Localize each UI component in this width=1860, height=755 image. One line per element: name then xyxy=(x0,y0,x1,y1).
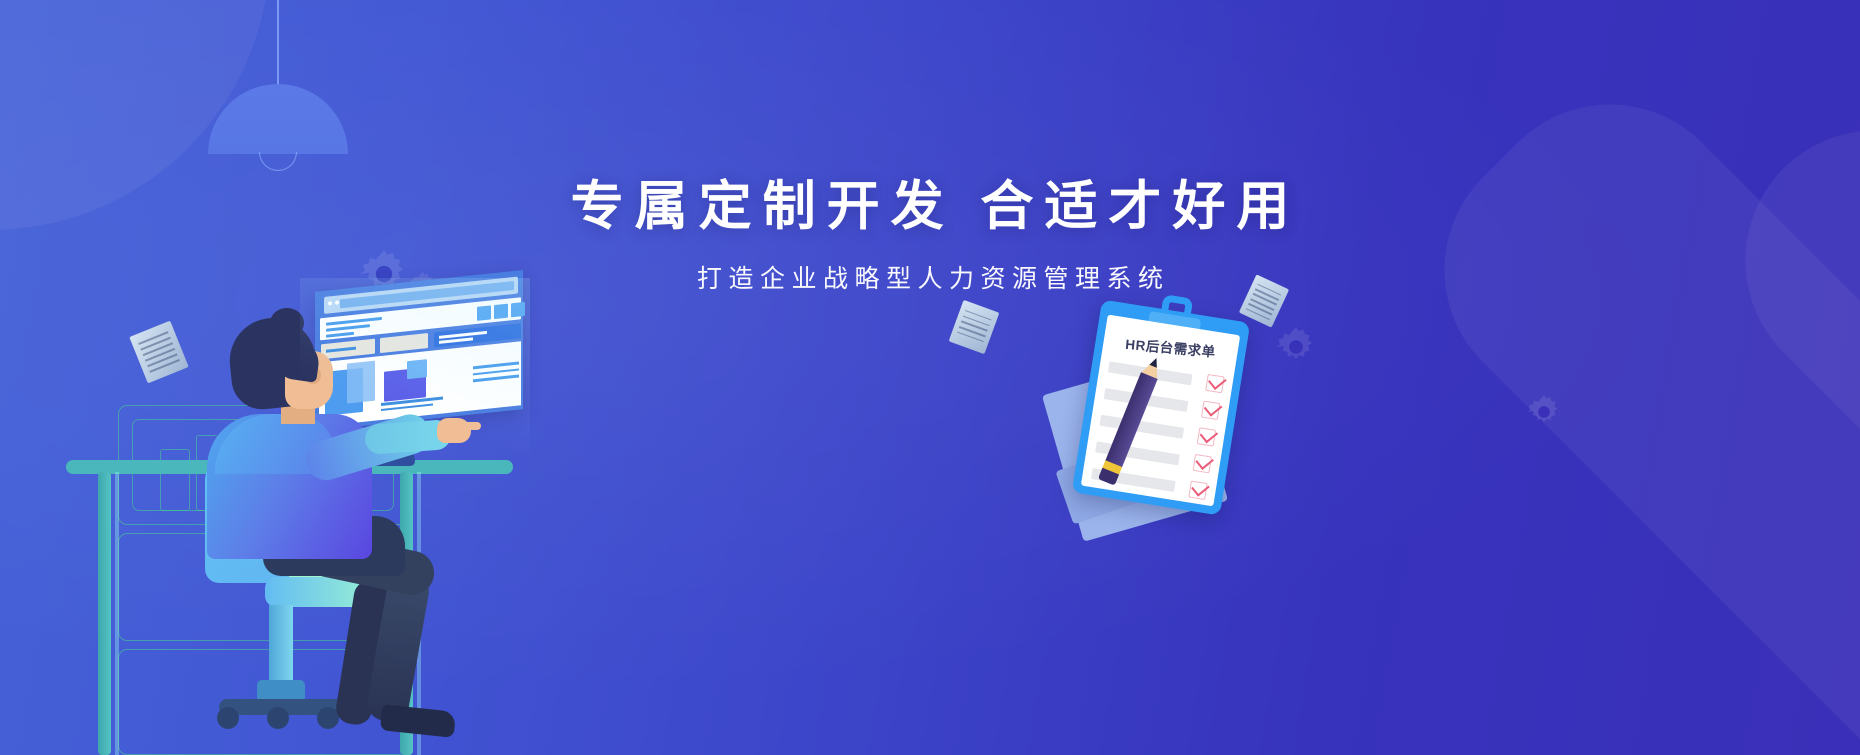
checkmark-icon xyxy=(1201,401,1220,420)
lamp-cord xyxy=(277,0,279,85)
document-icon xyxy=(949,300,1000,354)
lamp-shade xyxy=(208,84,348,154)
hanging-lamp-icon xyxy=(208,0,348,170)
document-icon xyxy=(129,321,189,384)
gear-icon xyxy=(1276,327,1316,367)
desk-leg xyxy=(98,472,111,755)
clipboard-title: HR后台需求单 xyxy=(1103,331,1238,363)
gear-icon xyxy=(1527,395,1561,429)
banner-copy: 专属定制开发 合适才好用 打造企业战略型人力资源管理系统 xyxy=(0,176,1860,295)
lamp-bulb xyxy=(259,152,297,171)
checkmark-icon xyxy=(1193,454,1212,473)
checkmark-icon xyxy=(1197,427,1216,446)
hero-banner: HR后台需求单 专属定制开发 合适才好用 打造企业战略型人力资源管理系统 xyxy=(0,0,1860,755)
checkmark-icon xyxy=(1188,481,1207,500)
background-diagonal-shape-1 xyxy=(1391,51,1860,755)
seated-person-illustration xyxy=(185,318,475,755)
banner-headline: 专属定制开发 合适才好用 xyxy=(0,176,1860,239)
checkmark-icon xyxy=(1205,374,1224,393)
clipboard-checklist: HR后台需求单 xyxy=(1072,299,1251,515)
banner-subheadline: 打造企业战略型人力资源管理系统 xyxy=(0,259,1860,295)
desk-leg-highlight xyxy=(115,472,119,755)
